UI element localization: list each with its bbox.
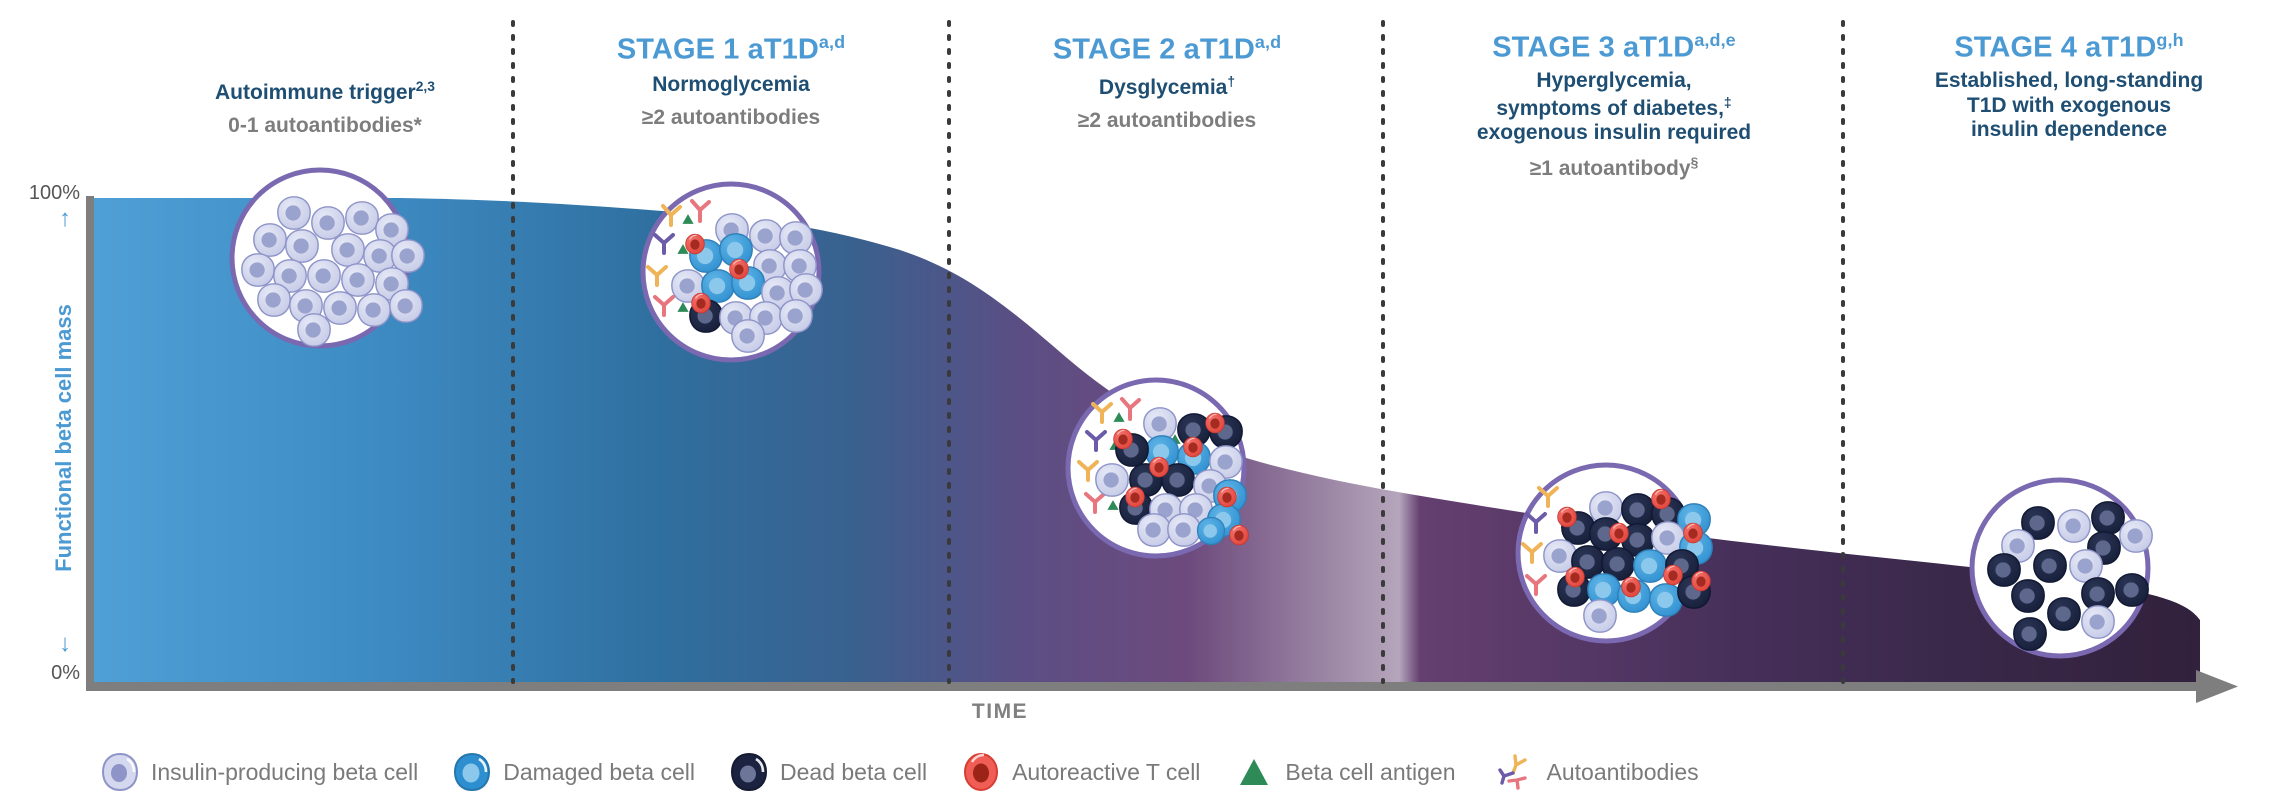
stage-trigger-note: 0-1 autoantibodies*	[130, 114, 520, 139]
legend-label-insulin-producing-beta-cell: Insulin-producing beta cell	[151, 759, 418, 786]
stage-4-title: STAGE 4 aT1Dg,h	[1848, 30, 2290, 65]
legend-item-damaged-beta-cell: Damaged beta cell	[452, 750, 695, 794]
legend-item-dead-beta-cell: Dead beta cell	[729, 750, 927, 794]
stage-header-stage-1: STAGE 1 aT1Da,d Normoglycemia ≥2 autoant…	[518, 32, 944, 130]
stage-3-title: STAGE 3 aT1Da,d,e	[1388, 30, 1840, 65]
y-axis-up-arrow: ↑	[50, 205, 80, 233]
legend-item-insulin-producing-beta-cell: Insulin-producing beta cell	[100, 750, 418, 794]
legend-item-autoantibodies: Autoantibodies	[1490, 750, 1699, 794]
legend-item-beta-cell-antigen: Beta cell antigen	[1234, 750, 1455, 794]
stage-header-stage-4: STAGE 4 aT1Dg,h Established, long-standi…	[1848, 30, 2290, 143]
autoreactive-t-cell-icon	[961, 750, 1001, 794]
damaged-beta-cell-icon	[452, 750, 492, 794]
autoantibodies-icon	[1490, 750, 1536, 794]
x-axis-title: TIME	[880, 700, 1120, 724]
beta-cell-antigen-icon	[1234, 750, 1274, 794]
y-axis-max-label: 100%	[0, 182, 80, 205]
stage-1-note: ≥2 autoantibodies	[518, 106, 944, 131]
y-axis-down-arrow: ↓	[50, 630, 80, 658]
y-axis-min-label: 0%	[0, 662, 80, 685]
legend-label-autoreactive-t-cell: Autoreactive T cell	[1012, 759, 1200, 786]
stage-2-subtitle: Dysglycemia†	[954, 73, 1380, 101]
stage-trigger-subtitle: Autoimmune trigger2,3	[130, 78, 520, 106]
stage-3-note: ≥1 autoantibody§	[1388, 154, 1840, 182]
dead-beta-cell-icon	[729, 750, 769, 794]
bubble-stage-2	[1068, 380, 1248, 556]
stage-2-note: ≥2 autoantibodies	[954, 109, 1380, 134]
stage-4-subtitle: Established, long-standing T1D with exog…	[1848, 69, 2290, 143]
stage-header-trigger: Autoimmune trigger2,3 0-1 autoantibodies…	[130, 72, 520, 139]
insulin-producing-beta-cell-icon	[100, 750, 140, 794]
y-axis-title: Functional beta cell mass	[51, 278, 77, 598]
legend-label-damaged-beta-cell: Damaged beta cell	[503, 759, 695, 786]
stage-header-stage-3: STAGE 3 aT1Da,d,e Hyperglycemia, symptom…	[1388, 30, 1840, 182]
bubble-stage-1	[643, 184, 822, 360]
stage-2-title: STAGE 2 aT1Da,d	[954, 32, 1380, 67]
legend-label-autoantibodies: Autoantibodies	[1547, 759, 1699, 786]
legend-label-dead-beta-cell: Dead beta cell	[780, 759, 927, 786]
stage-1-subtitle: Normoglycemia	[518, 73, 944, 98]
stage-3-subtitle: Hyperglycemia, symptoms of diabetes,‡ ex…	[1388, 69, 1840, 146]
t1d-stages-figure: 100% ↑ Functional beta cell mass ↓ 0% TI…	[0, 0, 2290, 808]
stage-header-stage-2: STAGE 2 aT1Da,d Dysglycemia† ≥2 autoanti…	[954, 32, 1380, 133]
y-axis-line	[86, 196, 94, 688]
legend-label-beta-cell-antigen: Beta cell antigen	[1285, 759, 1455, 786]
bubble-stage-4	[1972, 480, 2152, 656]
figure-legend: Insulin-producing beta cell Damaged beta…	[100, 748, 2190, 796]
legend-item-autoreactive-t-cell: Autoreactive T cell	[961, 750, 1200, 794]
stage-1-title: STAGE 1 aT1Da,d	[518, 32, 944, 67]
